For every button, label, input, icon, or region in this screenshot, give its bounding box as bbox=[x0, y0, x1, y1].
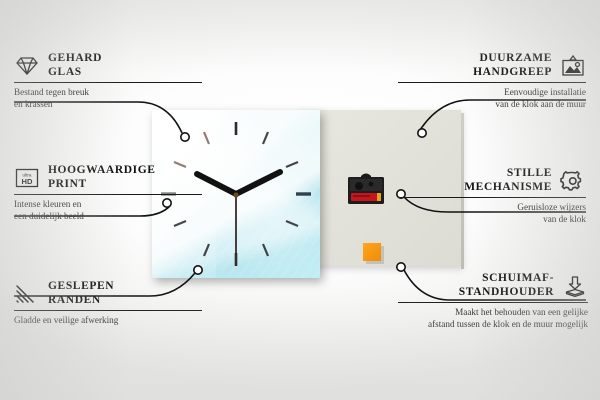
divider bbox=[398, 197, 586, 198]
feature-header: GESLEPENRANDEN bbox=[14, 280, 202, 307]
feature-description: Maakt het behouden van een gelijkeafstan… bbox=[398, 307, 588, 331]
foam-spacer-pad bbox=[363, 243, 381, 261]
feature-title: GEHARDGLAS bbox=[48, 52, 102, 79]
feature-header: DUURZAMEHANDGREEP bbox=[398, 52, 586, 79]
press-down-foam-icon bbox=[562, 275, 588, 297]
divider bbox=[398, 302, 588, 303]
feature-schuimafstandhouder[interactable]: SCHUIMAF-STANDHOUDER Maakt het behouden … bbox=[398, 272, 588, 331]
bevelled-edge-icon bbox=[14, 283, 40, 305]
feature-title: SCHUIMAF-STANDHOUDER bbox=[459, 272, 554, 299]
feature-hoogwaardige-print[interactable]: ultra HD HOOGWAARDIGEPRINT Intense kleur… bbox=[14, 164, 202, 223]
feature-header: STILLEMECHANISME bbox=[398, 167, 586, 194]
feature-title: HOOGWAARDIGEPRINT bbox=[48, 164, 156, 191]
feature-header: ultra HD HOOGWAARDIGEPRINT bbox=[14, 164, 202, 191]
diamond-icon bbox=[14, 55, 40, 77]
ultra-hd-icon: ultra HD bbox=[14, 167, 40, 189]
feature-description: Eenvoudige installatievan de klok aan de… bbox=[398, 87, 586, 111]
feature-title: GESLEPENRANDEN bbox=[48, 280, 114, 307]
feature-header: SCHUIMAF-STANDHOUDER bbox=[398, 272, 588, 299]
feature-geslepen-randen[interactable]: GESLEPENRANDEN Gladde en veilige afwerki… bbox=[14, 280, 202, 327]
divider bbox=[398, 82, 586, 83]
feature-title: DUURZAMEHANDGREEP bbox=[473, 52, 552, 79]
divider bbox=[14, 194, 202, 195]
feature-description: Intense kleuren eneen duidelijk beeld bbox=[14, 199, 202, 223]
gear-icon bbox=[560, 170, 586, 192]
feature-description: Bestand tegen breuken krassen bbox=[14, 87, 202, 111]
divider bbox=[14, 310, 202, 311]
feature-title: STILLEMECHANISME bbox=[464, 167, 552, 194]
svg-text:HD: HD bbox=[22, 177, 33, 186]
clock-mechanism bbox=[347, 172, 385, 206]
hanging-picture-frame-icon bbox=[560, 55, 586, 77]
infographic-canvas: GEHARDGLAS Bestand tegen breuken krassen… bbox=[0, 0, 600, 400]
feature-stille-mechanisme[interactable]: STILLEMECHANISME Geruisloze wijzersvan d… bbox=[398, 167, 586, 226]
feature-description: Gladde en veilige afwerking bbox=[14, 315, 202, 327]
feature-header: GEHARDGLAS bbox=[14, 52, 202, 79]
divider bbox=[14, 82, 202, 83]
feature-gehard-glas[interactable]: GEHARDGLAS Bestand tegen breuken krassen bbox=[14, 52, 202, 111]
feature-description: Geruisloze wijzersvan de klok bbox=[398, 202, 586, 226]
feature-duurzame-handgreep[interactable]: DUURZAMEHANDGREEP Eenvoudige installatie… bbox=[398, 52, 586, 111]
